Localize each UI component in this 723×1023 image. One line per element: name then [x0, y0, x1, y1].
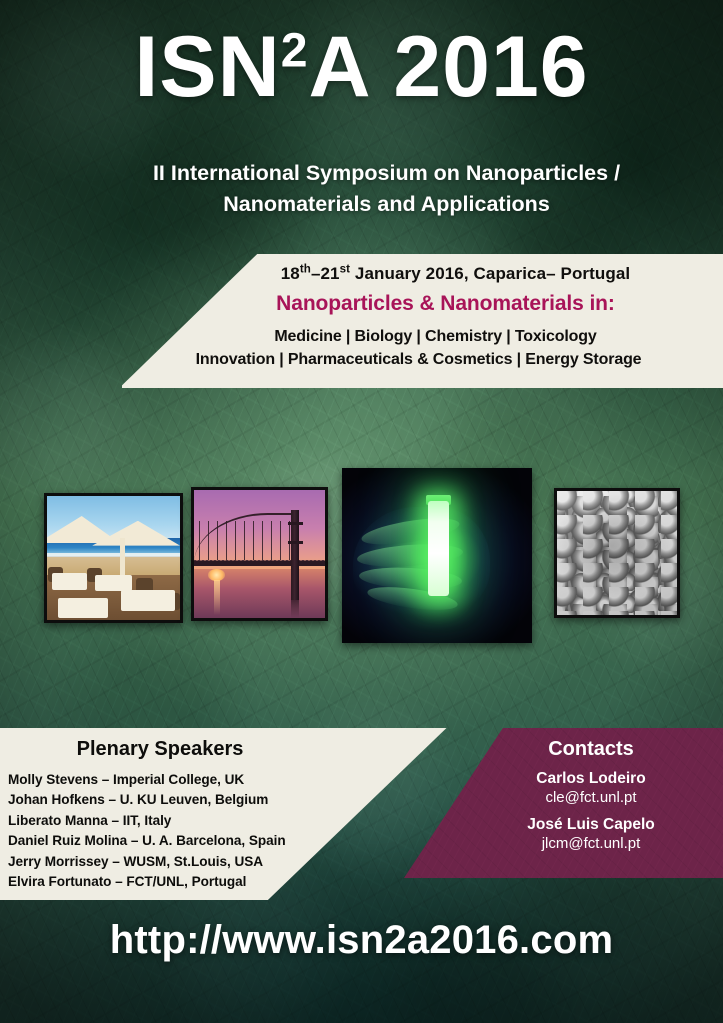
date-ordinal-end: st: [340, 263, 350, 275]
sem-shading-overlay: [557, 491, 677, 615]
title-rest: A 2016: [309, 19, 589, 115]
date-ordinal-start: th: [300, 263, 311, 275]
bridge-hanger-cables: [199, 521, 293, 561]
list-item: Jerry Morrissey – WUSM, St.Louis, USA: [8, 852, 470, 872]
poster-subtitle: II International Symposium on Nanopartic…: [90, 158, 683, 219]
contacts-title: Contacts: [481, 738, 701, 761]
photo-suspension-bridge-sunset: [191, 487, 328, 621]
list-item: Elvira Fortunato – FCT/UNL, Portugal: [8, 872, 470, 892]
poster-title: ISN2A 2016: [0, 22, 723, 112]
contact-email-link[interactable]: cle@fct.unl.pt: [481, 789, 701, 806]
plenary-speakers-title: Plenary Speakers: [10, 738, 310, 761]
plenary-speakers-panel: Plenary Speakers Molly Stevens – Imperia…: [0, 728, 470, 900]
photo-beach-restaurant-terrace: [44, 493, 183, 623]
contact-name: José Luis Capelo: [481, 816, 701, 834]
list-item: Johan Hofkens – U. KU Leuven, Belgium: [8, 790, 470, 810]
photo-glowing-green-cuvette: [342, 468, 532, 643]
plenary-speakers-list: Molly Stevens – Imperial College, UK Joh…: [8, 770, 470, 892]
beach-table: [58, 598, 109, 618]
info-banner-content: 18th–21st January 2016, Caparica– Portug…: [122, 264, 713, 371]
topics-row-1: Medicine | Biology | Chemistry | Toxicol…: [122, 325, 713, 348]
beach-table: [95, 575, 132, 591]
contacts-content: Contacts Carlos Lodeiro cle@fct.unl.pt J…: [481, 738, 701, 852]
bridge-tower-crossbar: [288, 522, 302, 525]
list-item: Liberato Manna – IIT, Italy: [8, 811, 470, 831]
conference-poster: ISN2A 2016 II International Symposium on…: [0, 0, 723, 1023]
photo-sem-nanoparticles: [554, 488, 680, 618]
date-separator: –21: [311, 264, 340, 283]
event-date-location: 18th–21st January 2016, Caparica– Portug…: [122, 264, 713, 284]
subtitle-line-1: II International Symposium on Nanopartic…: [90, 158, 683, 189]
bridge-sun-reflection: [214, 580, 221, 616]
date-day-start: 18: [281, 264, 300, 283]
website-url-link[interactable]: http://www.isn2a2016.com: [0, 918, 723, 963]
beach-table: [52, 573, 87, 590]
contacts-panel: Contacts Carlos Lodeiro cle@fct.unl.pt J…: [404, 728, 723, 878]
list-item: Daniel Ruiz Molina – U. A. Barcelona, Sp…: [8, 831, 470, 851]
bridge-deck: [194, 561, 325, 566]
bridge-tower-crossbar: [288, 541, 302, 544]
beach-table: [121, 590, 174, 611]
topics-row-2: Innovation | Pharmaceuticals & Cosmetics…: [122, 348, 713, 371]
topics-headline: Nanoparticles & Nanomaterials in:: [122, 292, 713, 316]
contact-entry: José Luis Capelo jlcm@fct.unl.pt: [481, 816, 701, 852]
contact-entry: Carlos Lodeiro cle@fct.unl.pt: [481, 770, 701, 806]
topics-list: Medicine | Biology | Chemistry | Toxicol…: [122, 325, 713, 371]
list-item: Molly Stevens – Imperial College, UK: [8, 770, 470, 790]
bridge-tower-reflection: [291, 600, 300, 618]
info-banner: 18th–21st January 2016, Caparica– Portug…: [122, 254, 723, 388]
contact-email-link[interactable]: jlcm@fct.unl.pt: [481, 835, 701, 852]
cuvette-vial: [428, 501, 450, 596]
title-main: ISN: [134, 19, 280, 115]
contact-name: Carlos Lodeiro: [481, 770, 701, 788]
date-month-year-place: January 2016, Caparica– Portugal: [350, 264, 630, 283]
subtitle-line-2: Nanomaterials and Applications: [90, 189, 683, 220]
title-superscript: 2: [281, 23, 309, 77]
